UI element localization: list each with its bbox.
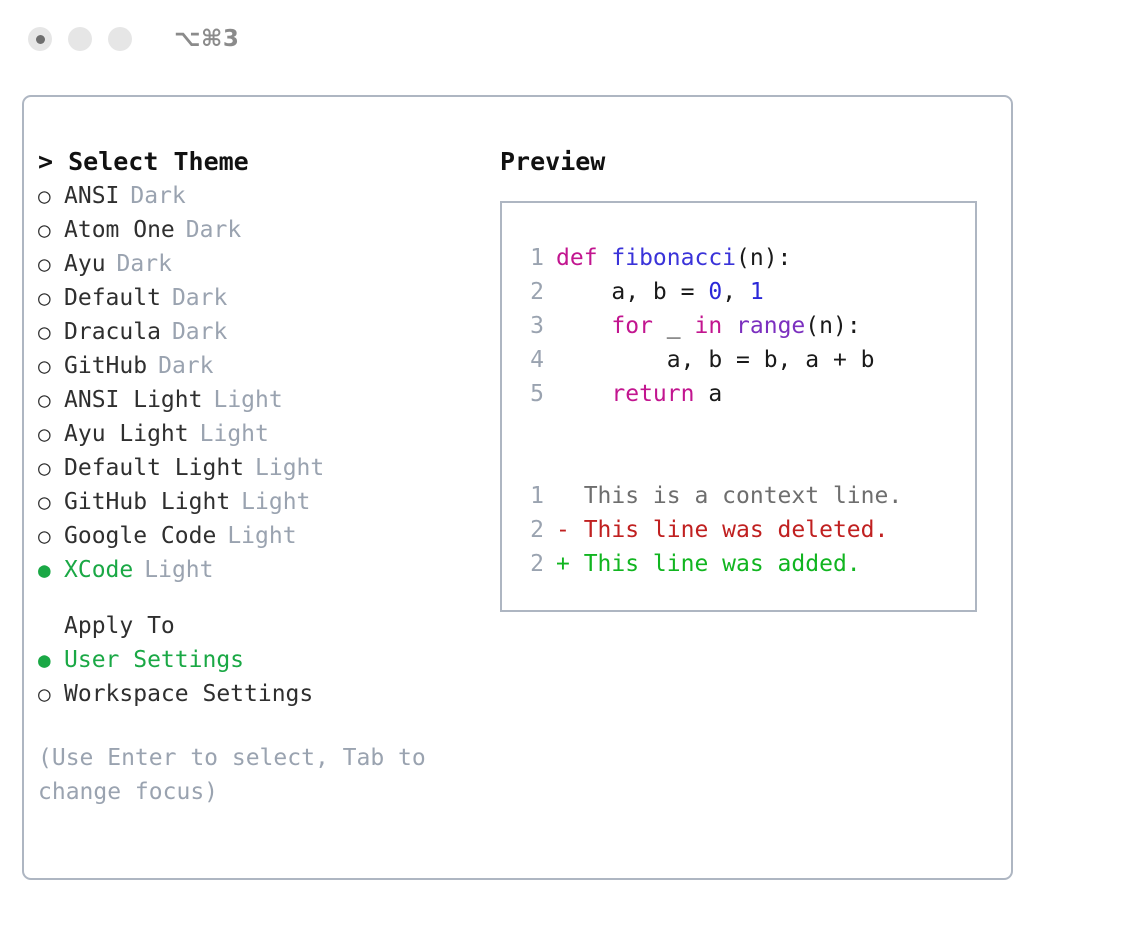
theme-list-item[interactable]: ○ GitHub Dark	[38, 349, 486, 383]
title-bar: ⌥⌘3	[0, 0, 1140, 78]
code-token: range	[736, 309, 805, 343]
code-token: a, b =	[556, 275, 708, 309]
line-number: 4	[516, 343, 544, 377]
theme-variant-badge: Dark	[172, 315, 227, 349]
line-number: 5	[516, 377, 544, 411]
apply-to-option-workspace-settings[interactable]: ○ Workspace Settings	[38, 677, 486, 711]
theme-list-item[interactable]: ○ ANSI Dark	[38, 179, 486, 213]
code-line: 4 a, b = b, a + b	[516, 343, 975, 377]
theme-variant-badge: Dark	[130, 179, 185, 213]
theme-variant-badge: Dark	[158, 349, 213, 383]
diff-line-context: 1 This is a context line.	[516, 479, 975, 513]
code-token: (n):	[736, 241, 791, 275]
spacer	[38, 587, 486, 609]
line-number: 3	[516, 309, 544, 343]
code-token: (n):	[805, 309, 860, 343]
preview-header: Preview	[500, 145, 1011, 179]
radio-selected-icon: ●	[38, 643, 64, 677]
code-token: return	[611, 377, 694, 411]
window-controls	[28, 27, 132, 51]
theme-name: GitHub	[64, 349, 147, 383]
code-token: in	[694, 309, 722, 343]
theme-name: GitHub Light	[64, 485, 230, 519]
theme-variant-badge: Light	[255, 451, 324, 485]
radio-icon: ○	[38, 485, 64, 519]
apply-to-option-label: Workspace Settings	[64, 677, 313, 711]
theme-list-item[interactable]: ○ Ayu Light Light	[38, 417, 486, 451]
line-number: 2	[516, 513, 544, 547]
apply-to-option-user-settings[interactable]: ● User Settings	[38, 643, 486, 677]
spacer	[38, 711, 486, 741]
radio-icon: ○	[38, 281, 64, 315]
select-theme-header: > Select Theme	[38, 145, 486, 179]
keyboard-hint-text: (Use Enter to select, Tab to change focu…	[38, 741, 458, 809]
preview-box: 1 def fibonacci (n): 2 a, b = 0 , 1 3	[500, 201, 977, 612]
diff-line-text: This is a context line.	[556, 479, 902, 513]
line-number: 1	[516, 241, 544, 275]
radio-icon: ○	[38, 213, 64, 247]
radio-icon: ○	[38, 677, 64, 711]
theme-list-item[interactable]: ○ GitHub Light Light	[38, 485, 486, 519]
preview-pane: Preview 1 def fibonacci (n): 2 a, b = 0	[486, 97, 1011, 878]
theme-variant-badge: Light	[200, 417, 269, 451]
theme-variant-badge: Dark	[172, 281, 227, 315]
theme-name: Default Light	[64, 451, 244, 485]
window-dot-2[interactable]	[68, 27, 92, 51]
code-token: ,	[722, 275, 750, 309]
radio-icon: ○	[38, 383, 64, 417]
code-token: 1	[750, 275, 764, 309]
radio-icon: ○	[38, 179, 64, 213]
radio-icon: ○	[38, 451, 64, 485]
theme-list: ○ ANSI Dark ○ Atom One Dark ○ Ayu Dark	[38, 179, 486, 587]
code-token: fibonacci	[611, 241, 736, 275]
theme-list-item[interactable]: ○ Default Light Light	[38, 451, 486, 485]
code-token	[556, 309, 611, 343]
theme-variant-badge: Light	[213, 383, 282, 417]
theme-list-item-selected[interactable]: ● XCode Light	[38, 553, 486, 587]
code-token: _	[653, 309, 695, 343]
code-token: def	[556, 241, 611, 275]
code-line: 3 for _ in range (n):	[516, 309, 975, 343]
code-line: 1 def fibonacci (n):	[516, 241, 975, 275]
radio-icon: ○	[38, 349, 64, 383]
code-token: a	[694, 377, 722, 411]
theme-variant-badge: Dark	[117, 247, 172, 281]
diff-line-deleted: 2 - This line was deleted.	[516, 513, 975, 547]
apply-to-options: ● User Settings ○ Workspace Settings	[38, 643, 486, 711]
code-token: 0	[708, 275, 722, 309]
theme-list-item[interactable]: ○ Atom One Dark	[38, 213, 486, 247]
radio-icon: ○	[38, 315, 64, 349]
spacer	[516, 411, 975, 445]
theme-name: Dracula	[64, 315, 161, 349]
theme-name: ANSI	[64, 179, 119, 213]
main-window: > Select Theme ○ ANSI Dark ○ Atom One Da…	[22, 95, 1013, 880]
theme-variant-badge: Dark	[186, 213, 241, 247]
theme-variant-badge: Light	[241, 485, 310, 519]
theme-list-item[interactable]: ○ Default Dark	[38, 281, 486, 315]
theme-name: Default	[64, 281, 161, 315]
code-token: a, b = b, a + b	[556, 343, 875, 377]
radio-icon: ○	[38, 247, 64, 281]
radio-selected-icon: ●	[38, 553, 64, 587]
diff-line-text: + This line was added.	[556, 547, 861, 581]
theme-list-item[interactable]: ○ Dracula Dark	[38, 315, 486, 349]
theme-name: Google Code	[64, 519, 216, 553]
theme-variant-badge: Light	[227, 519, 296, 553]
code-token	[556, 377, 611, 411]
code-sample: 1 def fibonacci (n): 2 a, b = 0 , 1 3	[516, 241, 975, 411]
diff-sample: 1 This is a context line. 2 - This line …	[516, 479, 975, 581]
window-dot-3[interactable]	[108, 27, 132, 51]
theme-list-item[interactable]: ○ Ayu Dark	[38, 247, 486, 281]
radio-icon: ○	[38, 519, 64, 553]
code-line: 2 a, b = 0 , 1	[516, 275, 975, 309]
keyboard-shortcut-label: ⌥⌘3	[174, 26, 239, 52]
line-number: 2	[516, 275, 544, 309]
theme-variant-badge: Light	[144, 553, 213, 587]
theme-name: XCode	[64, 553, 133, 587]
theme-list-item[interactable]: ○ ANSI Light Light	[38, 383, 486, 417]
theme-name: ANSI Light	[64, 383, 202, 417]
apply-to-option-label: User Settings	[64, 643, 244, 677]
window-dot-active-inner	[36, 35, 45, 44]
line-number: 2	[516, 547, 544, 581]
spacer	[516, 445, 975, 479]
line-number: 1	[516, 479, 544, 513]
code-token	[722, 309, 736, 343]
theme-list-item[interactable]: ○ Google Code Light	[38, 519, 486, 553]
code-line: 5 return a	[516, 377, 975, 411]
radio-icon: ○	[38, 417, 64, 451]
code-token: for	[611, 309, 653, 343]
theme-selector-pane: > Select Theme ○ ANSI Dark ○ Atom One Da…	[24, 97, 486, 878]
theme-name: Atom One	[64, 213, 175, 247]
apply-to-header: Apply To	[38, 609, 486, 643]
diff-line-text: - This line was deleted.	[556, 513, 888, 547]
theme-name: Ayu Light	[64, 417, 189, 451]
diff-line-added: 2 + This line was added.	[516, 547, 975, 581]
window-dot-active[interactable]	[28, 27, 52, 51]
theme-name: Ayu	[64, 247, 106, 281]
